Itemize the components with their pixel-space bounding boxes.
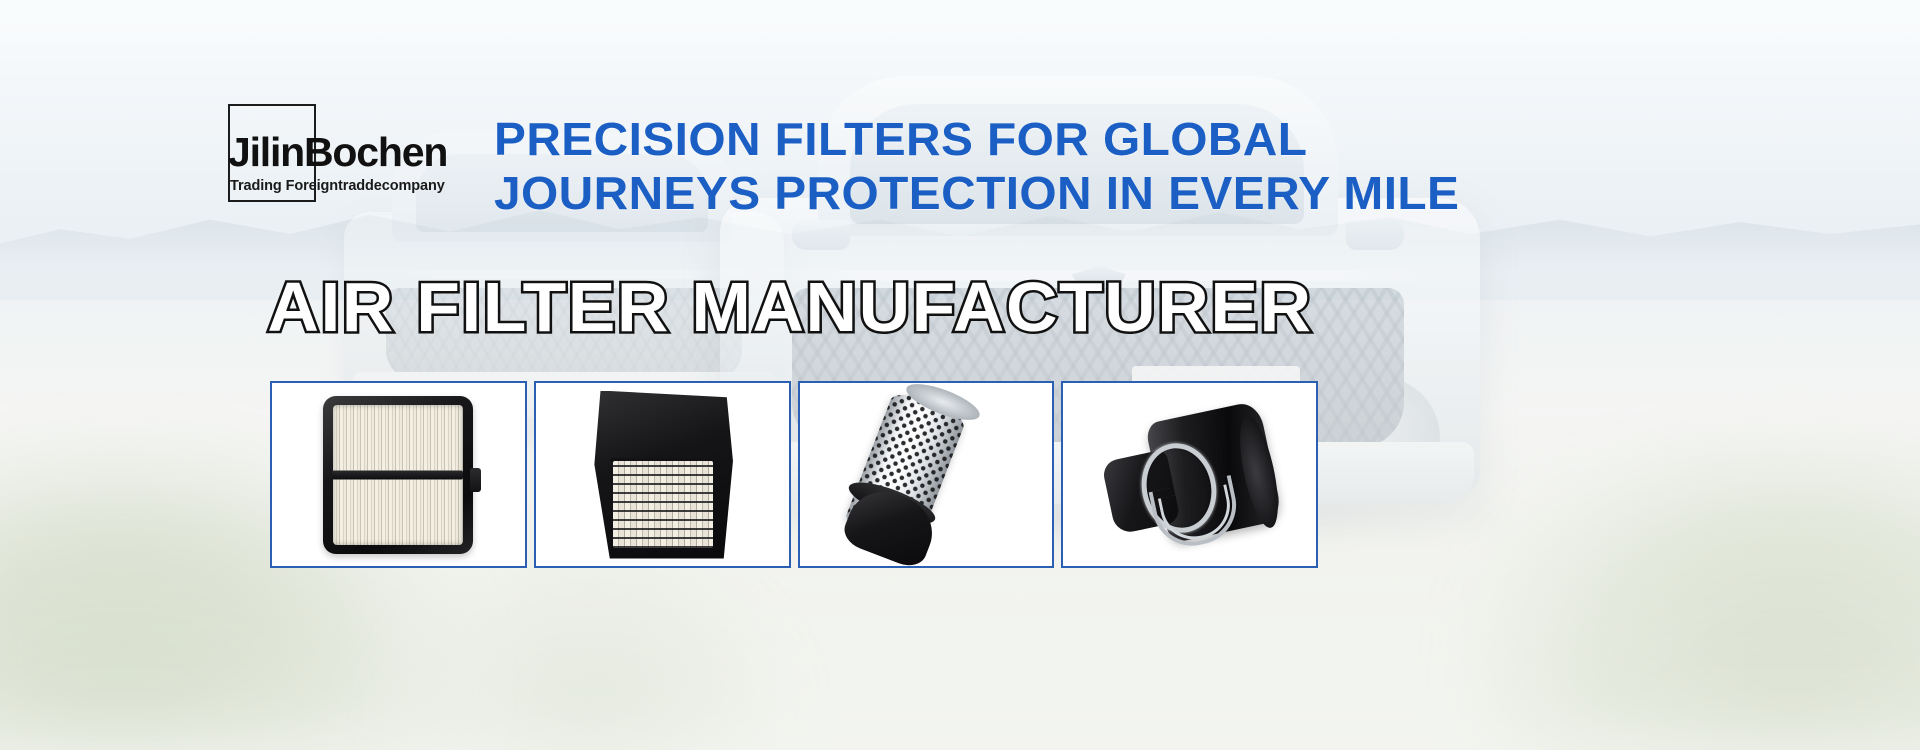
headline: PRECISION FILTERS FOR GLOBAL JOURNEYS PR… bbox=[494, 112, 1430, 220]
product-card-cabin-air-filter[interactable] bbox=[534, 381, 791, 568]
foliage-right bbox=[1480, 450, 1920, 750]
product-image-cabin-air-filter bbox=[536, 383, 789, 566]
product-image-fuel-filter bbox=[1063, 383, 1316, 566]
foliage-mid bbox=[380, 540, 800, 750]
headline-line-1: PRECISION FILTERS FOR GLOBAL bbox=[494, 112, 1430, 166]
main-title: AIR FILTER MANUFACTURER bbox=[0, 272, 1596, 342]
filter-pleats bbox=[613, 461, 713, 548]
filter-frame bbox=[1102, 395, 1278, 555]
filter-side-tab bbox=[470, 468, 481, 492]
product-strip bbox=[270, 381, 1318, 568]
filter-frame bbox=[585, 391, 739, 559]
car-mirror-right bbox=[1346, 220, 1404, 250]
headline-line-2: JOURNEYS PROTECTION IN EVERY MILE bbox=[494, 166, 1430, 220]
product-card-fuel-filter[interactable] bbox=[1061, 381, 1318, 568]
promo-banner: JilinBochen Trading Foreigntraddecompany… bbox=[0, 0, 1920, 750]
filter-center-band bbox=[332, 470, 463, 479]
logo-tagline: Trading Foreigntraddecompany bbox=[230, 178, 462, 194]
product-image-cylindrical-air-filter bbox=[800, 383, 1053, 566]
product-image-panel-air-filter bbox=[272, 383, 525, 566]
car-mirror-left bbox=[792, 220, 850, 250]
filter-frame bbox=[840, 390, 1012, 560]
product-card-panel-air-filter[interactable] bbox=[270, 381, 527, 568]
logo-wordmark: JilinBochen bbox=[228, 132, 460, 173]
filter-frame bbox=[323, 396, 473, 554]
product-card-cylindrical-air-filter[interactable] bbox=[798, 381, 1055, 568]
